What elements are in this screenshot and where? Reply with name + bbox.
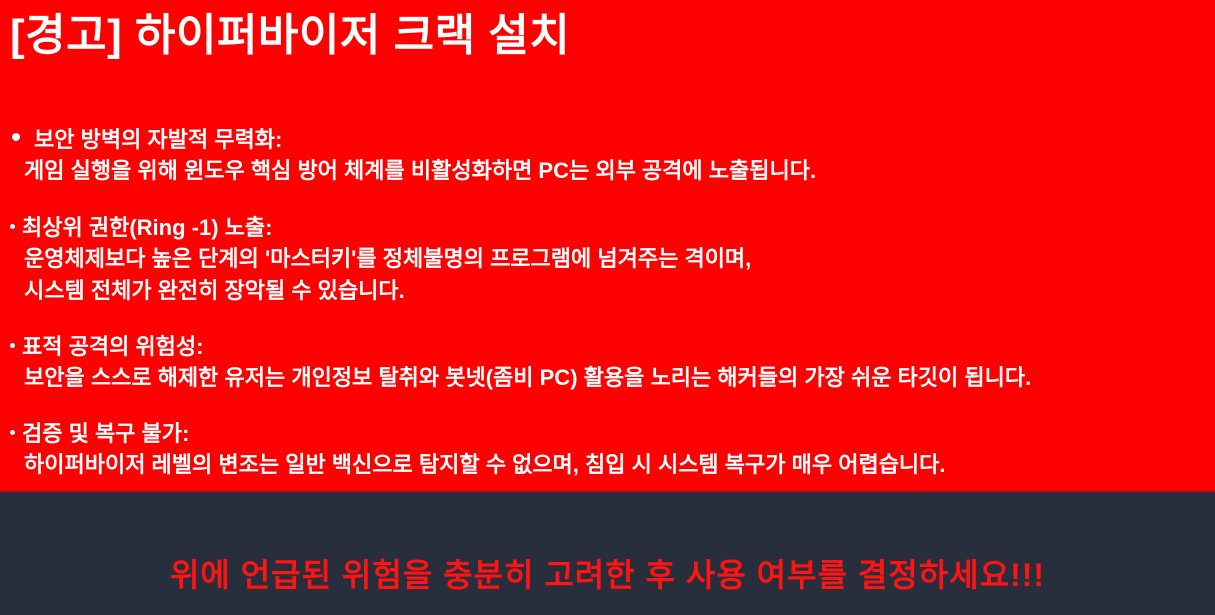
bullet-body: 게임 실행을 위해 윈도우 핵심 방어 체계를 비활성화하면 PC는 외부 공격… <box>24 155 1215 187</box>
bullet-heading: 보안 방벽의 자발적 무력화: <box>34 124 1215 155</box>
bullet-dot-icon <box>10 343 15 348</box>
warning-notice-panel: [경고] 하이퍼바이저 크랙 설치 보안 방벽의 자발적 무력화: 게임 실행을… <box>0 0 1215 615</box>
bullet-dot-icon <box>10 430 15 435</box>
bullet-body: 하이퍼바이저 레벨의 변조는 일반 백신으로 탐지할 수 없으며, 침입 시 시… <box>24 449 1215 481</box>
bullet-dot-icon <box>12 133 20 141</box>
bullet-dot-icon <box>10 224 15 229</box>
banner-divider <box>0 491 1215 493</box>
list-item: 검증 및 복구 불가: 하이퍼바이저 레벨의 변조는 일반 백신으로 탐지할 수… <box>0 418 1215 481</box>
bullet-line: 하이퍼바이저 레벨의 변조는 일반 백신으로 탐지할 수 없으며, 침입 시 시… <box>24 449 1215 481</box>
banner-warning-text: 위에 언급된 위험을 충분히 고려한 후 사용 여부를 결정하세요!!! <box>170 553 1045 597</box>
bottom-warning-banner: 위에 언급된 위험을 충분히 고려한 후 사용 여부를 결정하세요!!! <box>0 491 1215 615</box>
bullet-heading: 최상위 권한(Ring -1) 노출: <box>22 212 1215 243</box>
bullet-line: 시스템 전체가 완전히 장악될 수 있습니다. <box>24 275 1215 307</box>
list-item: 최상위 권한(Ring -1) 노출: 운영체제보다 높은 단계의 '마스터키'… <box>0 212 1215 307</box>
bullet-body: 보안을 스스로 해제한 유저는 개인정보 탈취와 봇넷(좀비 PC) 활용을 노… <box>24 362 1215 394</box>
bullet-heading: 표적 공격의 위험성: <box>22 331 1215 362</box>
bullet-body: 운영체제보다 높은 단계의 '마스터키'를 정체불명의 프로그램에 넘겨주는 격… <box>24 243 1215 307</box>
page-title: [경고] 하이퍼바이저 크랙 설치 <box>10 7 570 65</box>
bullet-line: 보안을 스스로 해제한 유저는 개인정보 탈취와 봇넷(좀비 PC) 활용을 노… <box>24 362 1215 394</box>
risk-bullet-list: 보안 방벽의 자발적 무력화: 게임 실행을 위해 윈도우 핵심 방어 체계를 … <box>0 124 1215 505</box>
bullet-line: 운영체제보다 높은 단계의 '마스터키'를 정체불명의 프로그램에 넘겨주는 격… <box>24 243 1215 275</box>
list-item: 표적 공격의 위험성: 보안을 스스로 해제한 유저는 개인정보 탈취와 봇넷(… <box>0 331 1215 394</box>
bullet-line: 게임 실행을 위해 윈도우 핵심 방어 체계를 비활성화하면 PC는 외부 공격… <box>24 155 1215 187</box>
list-item: 보안 방벽의 자발적 무력화: 게임 실행을 위해 윈도우 핵심 방어 체계를 … <box>0 124 1215 187</box>
bullet-heading: 검증 및 복구 불가: <box>22 418 1215 449</box>
